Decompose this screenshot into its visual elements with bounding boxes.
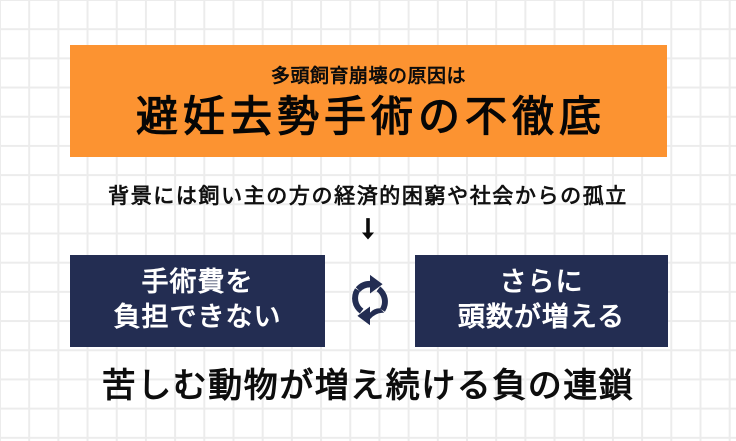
infographic-canvas: 多頭飼育崩壊の原因は 避妊去勢手術の不徹底 背景には飼い主の方の経済的困窮や社会… [0, 0, 736, 441]
banner-headline-text: 避妊去勢手術の不徹底 [131, 95, 606, 139]
cycle-box-population-line2: 頭数が増える [458, 301, 625, 336]
cycle-box-population-line1: さらに [500, 266, 584, 301]
cycle-box-population: さらに 頭数が増える [415, 255, 668, 347]
cycle-box-cost-line1: 手術費を [142, 266, 254, 301]
cycle-box-cost-line2: 負担できない [114, 301, 282, 336]
conclusion-text: 苦しむ動物が増え続ける負の連鎖 [0, 358, 736, 407]
banner-kicker-text: 多頭飼育崩壊の原因は [271, 67, 466, 86]
cycle-box-cost: 手術費を 負担できない [70, 255, 325, 347]
arrow-down-icon [0, 214, 736, 244]
cycle-arrows-icon [344, 274, 396, 326]
headline-banner: 多頭飼育崩壊の原因は 避妊去勢手術の不徹底 [70, 45, 667, 157]
subtitle-text: 背景には飼い主の方の経済的困窮や社会からの孤立 [0, 180, 736, 210]
